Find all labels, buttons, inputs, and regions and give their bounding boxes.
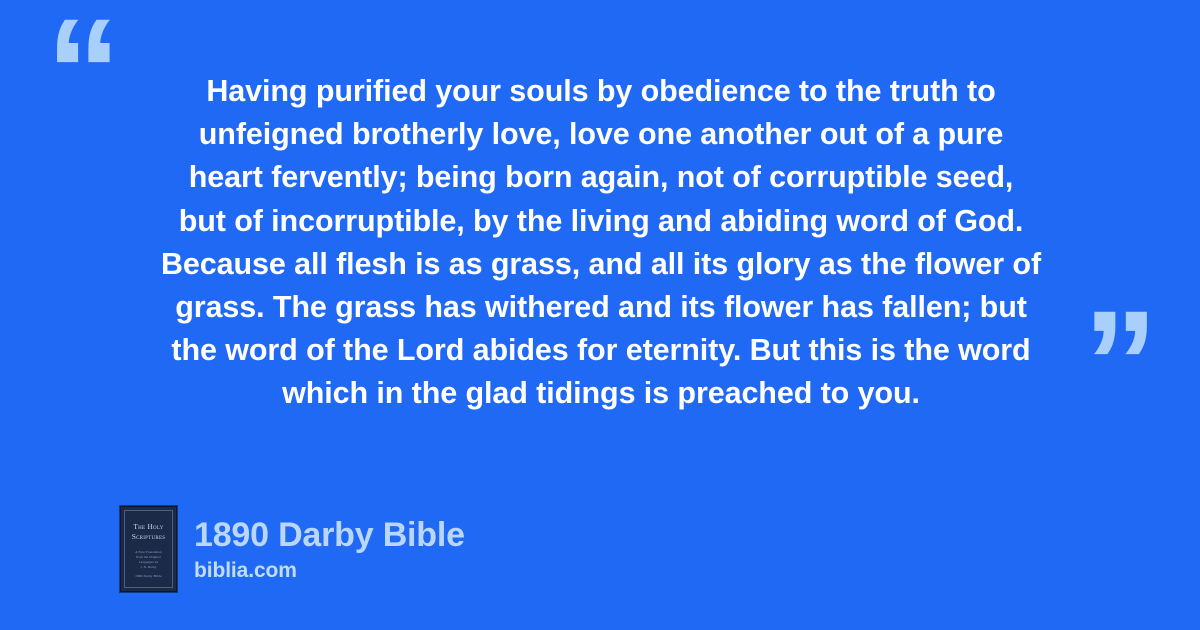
quote-line: Because all flesh is as grass, and all i… <box>118 243 1084 286</box>
close-quote-icon: ” <box>1083 288 1158 438</box>
book-cover-footer: 1890 Darby Bible <box>125 574 172 578</box>
quote-line: unfeigned brotherly love, love one anoth… <box>118 113 1084 156</box>
quote-line: Having purified your souls by obedience … <box>118 70 1084 113</box>
footer: The Holy Scriptures A New Translation fr… <box>120 506 465 592</box>
book-cover-icon: The Holy Scriptures A New Translation fr… <box>120 506 177 592</box>
quote-line: which in the glad tidings is preached to… <box>118 372 1084 415</box>
bible-version-title: 1890 Darby Bible <box>194 515 465 555</box>
open-quote-icon: “ <box>46 0 121 146</box>
quote-line: grass. The grass has withered and its fl… <box>118 286 1084 329</box>
book-cover-title: The Holy Scriptures <box>125 522 172 541</box>
site-name: biblia.com <box>194 558 465 584</box>
quote-line: but of incorruptible, by the living and … <box>118 200 1084 243</box>
quote-card: “ Having purified your souls by obedienc… <box>0 0 1200 630</box>
book-cover-subtitle-line: J. N. Darby <box>126 565 171 570</box>
quote-text: Having purified your souls by obedience … <box>118 70 1084 416</box>
quote-line: the word of the Lord abides for eternity… <box>118 329 1084 372</box>
footer-text-group: 1890 Darby Bible biblia.com <box>194 515 465 584</box>
book-cover-subtitle: A New Translation from the Original Lang… <box>126 550 171 570</box>
quote-line: heart fervently; being born again, not o… <box>118 156 1084 199</box>
